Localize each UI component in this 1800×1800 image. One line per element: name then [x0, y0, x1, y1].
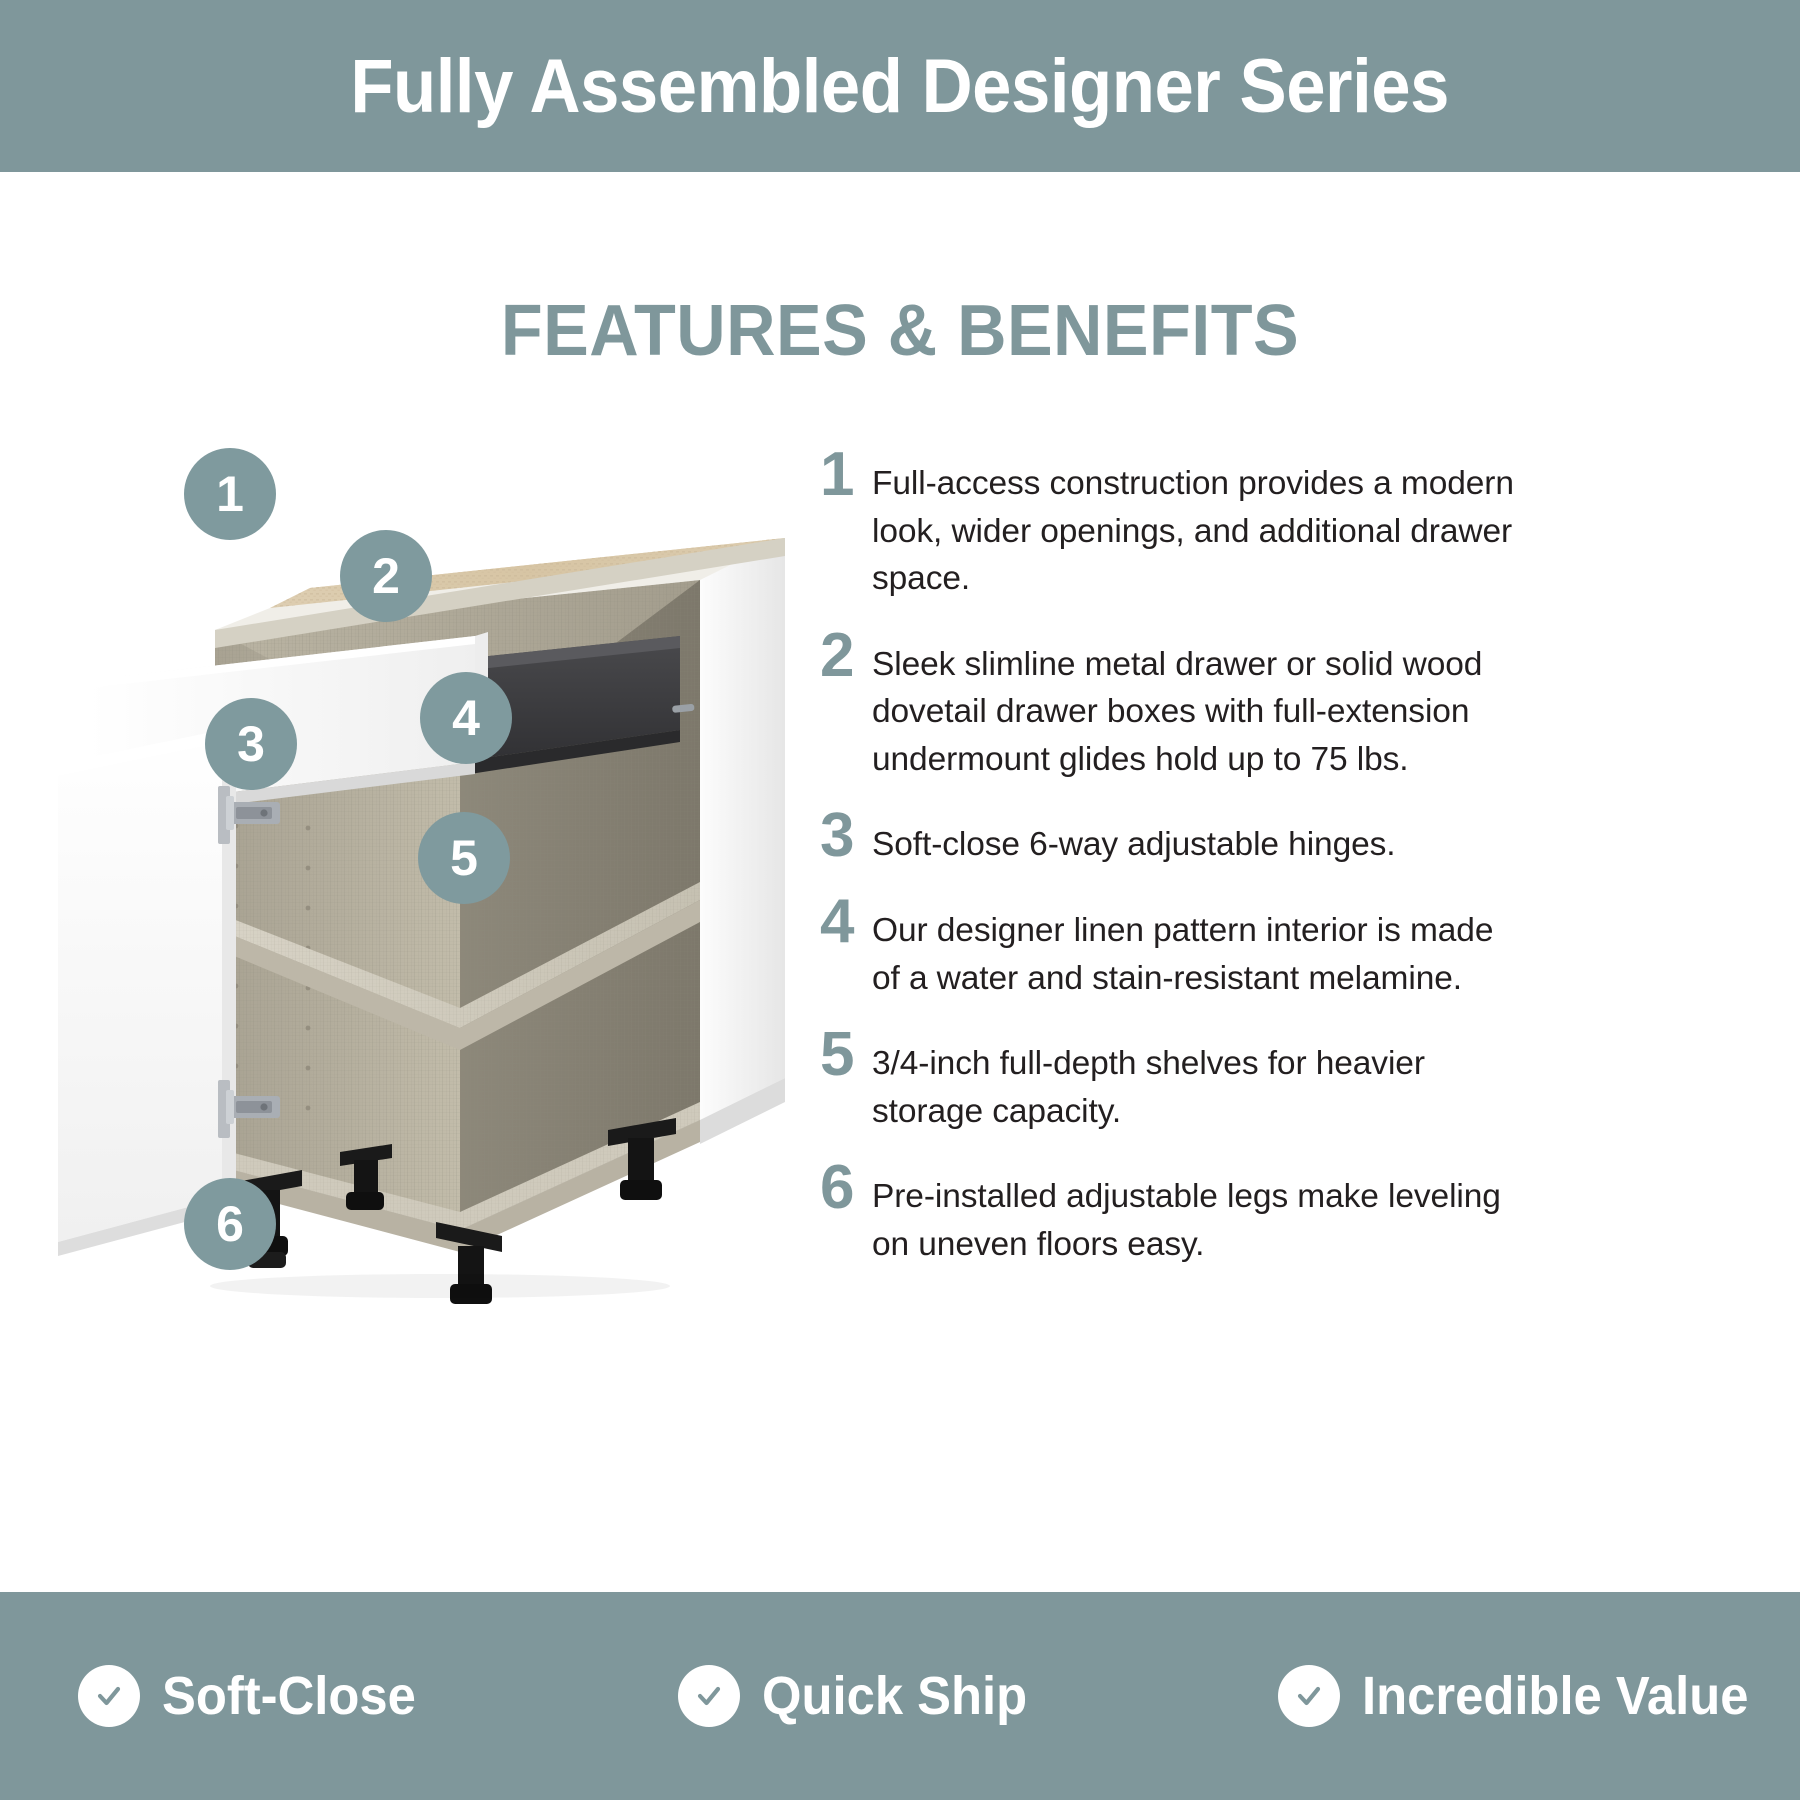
callout-badge-6[interactable]: 6	[184, 1178, 276, 1270]
feature-number-4: 4	[800, 895, 872, 950]
callout-badge-5[interactable]: 5	[418, 812, 510, 904]
feature-item-3: 3 Soft-close 6-way adjustable hinges.	[800, 809, 1520, 869]
feature-number-2: 2	[800, 629, 872, 684]
feature-number-5: 5	[800, 1028, 872, 1083]
footer-item-soft-close: Soft-Close	[0, 1665, 600, 1727]
check-circle-icon	[1278, 1665, 1340, 1727]
footer-label-quick-ship: Quick Ship	[762, 1665, 1027, 1727]
footer-label-incredible-value: Incredible Value	[1362, 1665, 1749, 1727]
callout-badge-2[interactable]: 2	[340, 530, 432, 622]
callout-badge-3[interactable]: 3	[205, 698, 297, 790]
section-heading: FEATURES & BENEFITS	[45, 290, 1755, 372]
feature-number-1: 1	[800, 448, 872, 503]
feature-text-6: Pre-installed adjustable legs make level…	[872, 1161, 1520, 1268]
feature-item-4: 4 Our designer linen pattern interior is…	[800, 895, 1520, 1002]
feature-text-5: 3/4-inch full-depth shelves for heavier …	[872, 1028, 1520, 1135]
check-circle-icon	[78, 1665, 140, 1727]
features-list: 1 Full-access construction provides a mo…	[800, 448, 1520, 1294]
callout-badge-1[interactable]: 1	[184, 448, 276, 540]
feature-item-6: 6 Pre-installed adjustable legs make lev…	[800, 1161, 1520, 1268]
feature-item-5: 5 3/4-inch full-depth shelves for heavie…	[800, 1028, 1520, 1135]
footer-item-incredible-value: Incredible Value	[1200, 1665, 1800, 1727]
feature-text-2: Sleek slimline metal drawer or solid woo…	[872, 629, 1520, 784]
cabinet-door-panel	[58, 730, 222, 1242]
page-title: Fully Assembled Designer Series	[351, 43, 1450, 130]
floor-shadow	[210, 1274, 670, 1298]
callout-badge-4[interactable]: 4	[420, 672, 512, 764]
feature-number-6: 6	[800, 1161, 872, 1216]
footer-item-quick-ship: Quick Ship	[600, 1665, 1200, 1727]
cabinet-right-exterior-panel	[700, 538, 785, 1120]
feature-item-1: 1 Full-access construction provides a mo…	[800, 448, 1520, 603]
feature-text-3: Soft-close 6-way adjustable hinges.	[872, 809, 1520, 869]
feature-text-1: Full-access construction provides a mode…	[872, 448, 1520, 603]
header-bar: Fully Assembled Designer Series	[0, 0, 1800, 172]
footer-label-soft-close: Soft-Close	[162, 1665, 416, 1727]
check-circle-icon	[678, 1665, 740, 1727]
feature-text-4: Our designer linen pattern interior is m…	[872, 895, 1520, 1002]
feature-number-3: 3	[800, 809, 872, 864]
feature-item-2: 2 Sleek slimline metal drawer or solid w…	[800, 629, 1520, 784]
footer-bar: Soft-Close Quick Ship Incredible Value	[0, 1592, 1800, 1800]
